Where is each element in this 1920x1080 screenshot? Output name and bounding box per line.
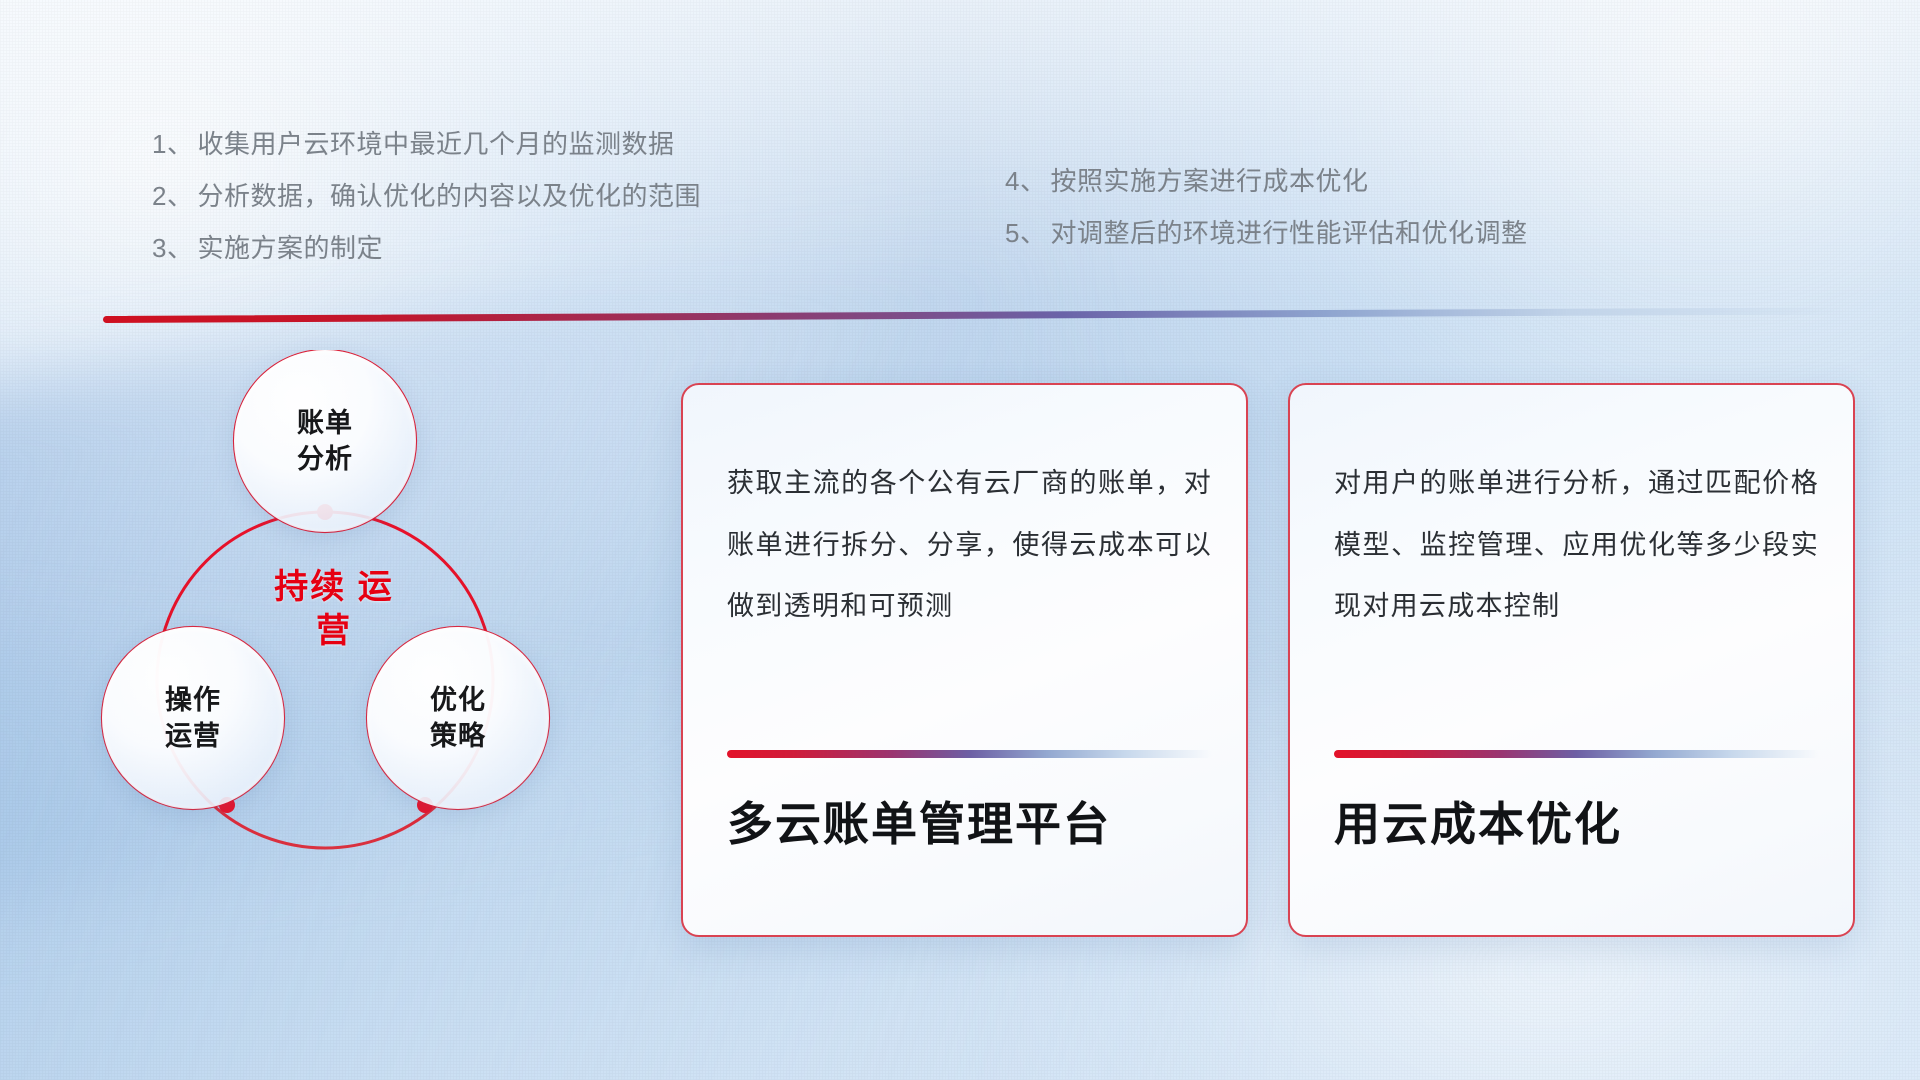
card-2-body: 对用户的账单进行分析，通过匹配价格模型、监控管理、应用优化等多少段实现对用云成本… <box>1334 453 1819 638</box>
bubble-top-line2: 分析 <box>297 441 353 477</box>
card-multicloud-billing-platform[interactable]: 获取主流的各个公有云厂商的账单，对账单进行拆分、分享，使得云成本可以做到透明和可… <box>681 383 1248 937</box>
card-1-divider <box>727 750 1212 758</box>
card-2-divider <box>1334 750 1819 758</box>
step-text-2: 分析数据，确认优化的内容以及优化的范围 <box>197 183 701 209</box>
steps-column-right: 4、 按照实施方案进行成本优化 5、 对调整后的环境进行性能评估和优化调整 <box>1005 155 1527 259</box>
steps-column-left: 1、 收集用户云环境中最近几个月的监测数据 2、 分析数据，确认优化的内容以及优… <box>152 118 701 274</box>
step-number-5: 5、 <box>1005 220 1046 246</box>
step-number-4: 4、 <box>1005 168 1046 194</box>
center-label-line1: 持续 <box>274 568 346 606</box>
step-number-2: 2、 <box>152 183 193 209</box>
bubble-right-line1: 优化 <box>430 682 486 718</box>
card-2-title: 用云成本优化 <box>1334 797 1823 852</box>
step-item-2: 2、 分析数据，确认优化的内容以及优化的范围 <box>152 170 701 222</box>
card-1-title: 多云账单管理平台 <box>727 797 1216 852</box>
step-item-5: 5、 对调整后的环境进行性能评估和优化调整 <box>1005 207 1527 259</box>
step-number-3: 3、 <box>152 235 193 261</box>
step-text-3: 实施方案的制定 <box>197 235 383 261</box>
diagram-bubble-optimization-strategy[interactable]: 优化 策略 <box>367 627 549 809</box>
card-1-body: 获取主流的各个公有云厂商的账单，对账单进行拆分、分享，使得云成本可以做到透明和可… <box>727 453 1212 638</box>
step-text-1: 收集用户云环境中最近几个月的监测数据 <box>197 131 674 157</box>
diagram-bubble-bill-analysis[interactable]: 账单 分析 <box>234 350 416 532</box>
diagram-bubble-operations[interactable]: 操作 运营 <box>102 627 284 809</box>
bubble-left-line1: 操作 <box>165 682 221 718</box>
bubble-top-line1: 账单 <box>297 405 353 441</box>
diagram-center-label: 持续 运营 <box>274 565 394 653</box>
bubble-right-line2: 策略 <box>430 718 486 754</box>
step-item-1: 1、 收集用户云环境中最近几个月的监测数据 <box>152 118 701 170</box>
slide-canvas: 1、 收集用户云环境中最近几个月的监测数据 2、 分析数据，确认优化的内容以及优… <box>0 0 1920 1080</box>
bubble-left-line2: 运营 <box>165 718 221 754</box>
step-text-5: 对调整后的环境进行性能评估和优化调整 <box>1050 220 1527 246</box>
step-text-4: 按照实施方案进行成本优化 <box>1050 168 1368 194</box>
step-number-1: 1、 <box>152 131 193 157</box>
step-item-3: 3、 实施方案的制定 <box>152 222 701 274</box>
step-item-4: 4、 按照实施方案进行成本优化 <box>1005 155 1527 207</box>
steps-section: 1、 收集用户云环境中最近几个月的监测数据 2、 分析数据，确认优化的内容以及优… <box>0 0 1920 290</box>
continuous-operation-diagram: 账单 分析 操作 运营 优化 策略 持续 运营 <box>80 350 640 950</box>
card-cloud-cost-optimization[interactable]: 对用户的账单进行分析，通过匹配价格模型、监控管理、应用优化等多少段实现对用云成本… <box>1288 383 1855 937</box>
